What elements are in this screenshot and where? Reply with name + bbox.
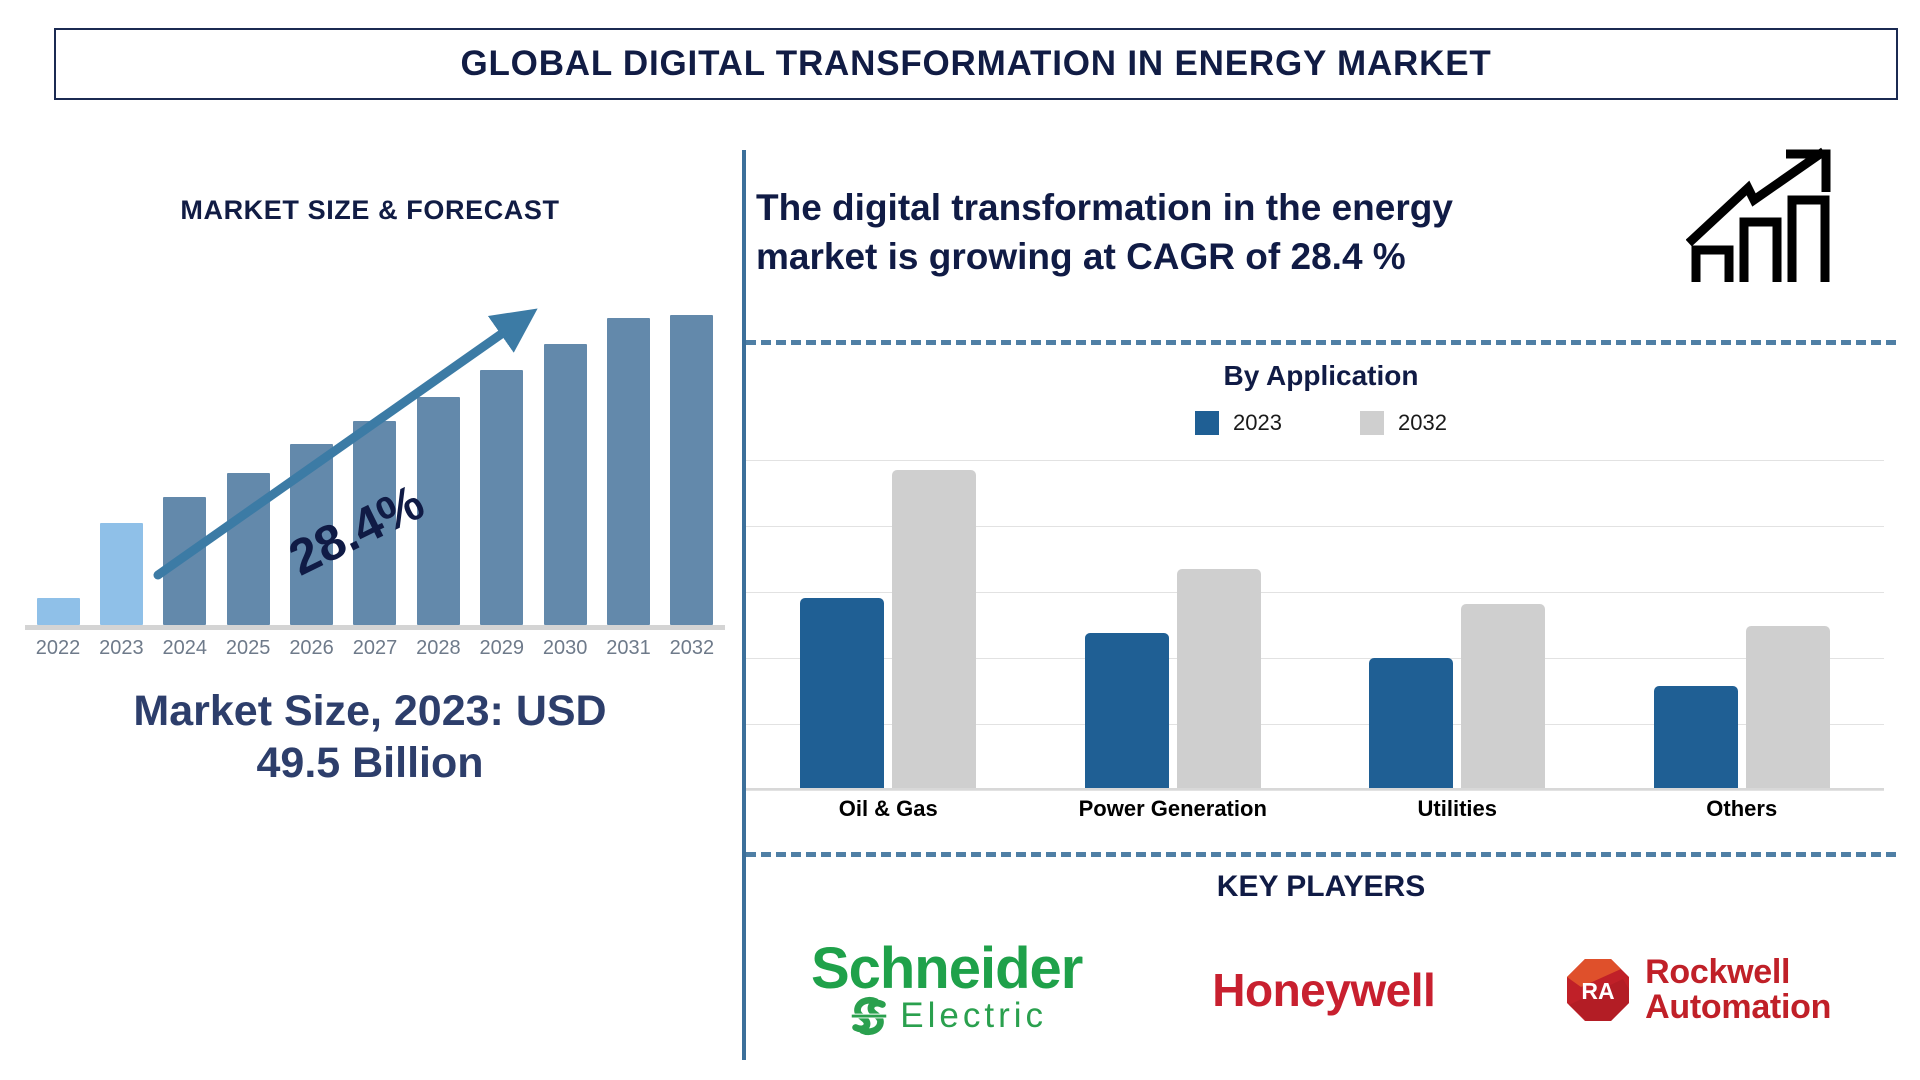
logo-rockwell-automation: RA Rockwell Automation bbox=[1565, 955, 1831, 1025]
svg-text:RA: RA bbox=[1582, 978, 1615, 1004]
market-size-bar-slot bbox=[537, 315, 593, 625]
market-size-bar-slot bbox=[664, 315, 720, 625]
chart-baseline bbox=[746, 788, 1884, 790]
bar-2023 bbox=[1369, 658, 1453, 788]
bar-group bbox=[1619, 460, 1864, 788]
schneider-s-mark-icon bbox=[846, 993, 892, 1039]
market-size-year-label: 2029 bbox=[474, 637, 530, 660]
bar-2032 bbox=[1461, 604, 1545, 788]
market-size-bar-slot bbox=[157, 315, 213, 625]
divider-bottom bbox=[746, 852, 1896, 857]
logo-schneider-electric: Schneider Electric bbox=[811, 941, 1082, 1038]
by-application-title: By Application bbox=[746, 360, 1896, 392]
legend-swatch-icon bbox=[1195, 411, 1219, 435]
market-size-footer-line1: Market Size, 2023: USD bbox=[20, 685, 720, 737]
legend-item-2023[interactable]: 2023 bbox=[1195, 410, 1282, 436]
market-size-bar-slot bbox=[220, 315, 276, 625]
by-application-chart bbox=[746, 460, 1884, 790]
market-size-year-label: 2022 bbox=[30, 637, 86, 660]
legend-swatch-icon bbox=[1360, 411, 1384, 435]
logo-honeywell: Honeywell bbox=[1212, 963, 1435, 1017]
market-size-year-labels: 2022202320242025202620272028202920302031… bbox=[30, 637, 720, 660]
chart-legend: 20232032 bbox=[746, 410, 1896, 436]
logo-rockwell-line1: Rockwell bbox=[1645, 955, 1831, 990]
logo-schneider-wordmark: Schneider bbox=[811, 941, 1082, 996]
legend-item-2032[interactable]: 2032 bbox=[1360, 410, 1447, 436]
market-size-bar-slot bbox=[474, 315, 530, 625]
logo-schneider-electric-word: Electric bbox=[900, 996, 1047, 1036]
bar-2023 bbox=[800, 598, 884, 788]
market-size-bar-slot bbox=[30, 315, 86, 625]
market-size-year-label: 2028 bbox=[410, 637, 466, 660]
category-label: Utilities bbox=[1335, 796, 1580, 822]
category-label: Power Generation bbox=[1050, 796, 1295, 822]
market-size-year-label: 2027 bbox=[347, 637, 403, 660]
market-size-chart bbox=[30, 315, 720, 625]
bar-2023 bbox=[1085, 633, 1169, 788]
market-size-bar bbox=[163, 497, 206, 625]
bar-group bbox=[1335, 460, 1580, 788]
chart-gridline bbox=[746, 790, 1884, 791]
market-size-bar bbox=[544, 344, 587, 625]
rockwell-ra-badge-icon: RA bbox=[1565, 957, 1631, 1023]
market-size-bar bbox=[227, 473, 270, 625]
market-size-year-label: 2026 bbox=[284, 637, 340, 660]
market-size-panel: MARKET SIZE & FORECAST 28.4% 20222023202… bbox=[0, 140, 740, 1070]
market-size-bar bbox=[670, 315, 713, 625]
market-size-axis bbox=[25, 625, 725, 630]
market-size-year-label: 2025 bbox=[220, 637, 276, 660]
market-size-footer-line2: 49.5 Billion bbox=[20, 737, 720, 789]
market-size-year-label: 2032 bbox=[664, 637, 720, 660]
right-panel: The digital transformation in the energy… bbox=[746, 140, 1920, 1080]
market-size-bar-slot bbox=[601, 315, 657, 625]
market-size-year-label: 2031 bbox=[601, 637, 657, 660]
market-size-year-label: 2030 bbox=[537, 637, 593, 660]
market-size-bar bbox=[480, 370, 523, 625]
bar-2032 bbox=[1177, 569, 1261, 788]
category-label: Oil & Gas bbox=[766, 796, 1011, 822]
by-application-category-labels: Oil & GasPower GenerationUtilitiesOthers bbox=[746, 796, 1884, 822]
divider-top bbox=[746, 340, 1896, 345]
bar-2032 bbox=[892, 470, 976, 788]
market-size-bar-slot bbox=[347, 315, 403, 625]
market-size-bar bbox=[100, 523, 143, 625]
market-size-bar-slot bbox=[93, 315, 149, 625]
logo-rockwell-line2: Automation bbox=[1645, 990, 1831, 1025]
growth-arrow-icon bbox=[1686, 142, 1846, 287]
market-size-footer: Market Size, 2023: USD 49.5 Billion bbox=[20, 685, 720, 790]
market-size-bars bbox=[30, 315, 720, 625]
market-size-bar-slot bbox=[410, 315, 466, 625]
infographic-root: GLOBAL DIGITAL TRANSFORMATION IN ENERGY … bbox=[0, 0, 1920, 1080]
market-size-year-label: 2023 bbox=[93, 637, 149, 660]
legend-label: 2032 bbox=[1398, 410, 1447, 436]
market-size-bar bbox=[607, 318, 650, 625]
bar-2023 bbox=[1654, 686, 1738, 788]
category-label: Others bbox=[1619, 796, 1864, 822]
bar-group bbox=[1050, 460, 1295, 788]
market-size-heading: MARKET SIZE & FORECAST bbox=[0, 195, 740, 226]
bar-group bbox=[766, 460, 1011, 788]
page-title: GLOBAL DIGITAL TRANSFORMATION IN ENERGY … bbox=[460, 44, 1491, 84]
market-size-bar bbox=[37, 598, 80, 625]
key-players-logos: Schneider Electric Honeywell bbox=[746, 925, 1896, 1055]
market-size-year-label: 2024 bbox=[157, 637, 213, 660]
cagr-headline-line2: market is growing at CAGR of 28.4 % bbox=[756, 233, 1656, 282]
title-bar: GLOBAL DIGITAL TRANSFORMATION IN ENERGY … bbox=[54, 28, 1898, 100]
by-application-bar-groups bbox=[746, 460, 1884, 788]
bar-2032 bbox=[1746, 626, 1830, 788]
legend-label: 2023 bbox=[1233, 410, 1282, 436]
key-players-title: KEY PLAYERS bbox=[746, 870, 1896, 904]
cagr-headline-line1: The digital transformation in the energy bbox=[756, 184, 1656, 233]
cagr-headline: The digital transformation in the energy… bbox=[756, 184, 1656, 282]
